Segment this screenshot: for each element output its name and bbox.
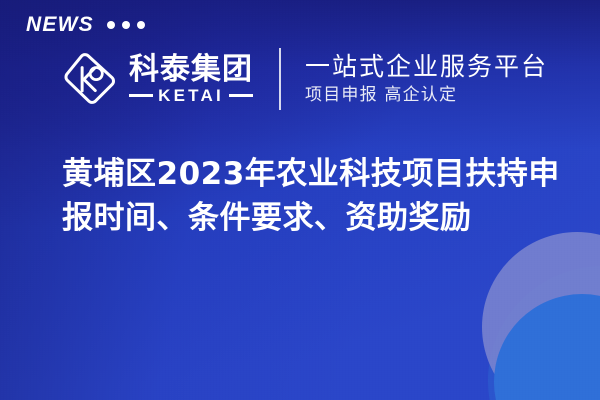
dot-icon: [107, 21, 115, 29]
header-divider: [279, 48, 281, 110]
tagline-secondary: 项目申报 高企认定: [305, 84, 548, 106]
dot-icon: [122, 21, 130, 29]
tagline-primary: 一站式企业服务平台: [305, 52, 548, 82]
brand-header: 科泰集团 KETAI 一站式企业服务平台 项目申报 高企认定: [0, 42, 600, 116]
ketai-kp-diamond-logo-icon: [62, 51, 118, 107]
news-kicker-dots: [107, 21, 145, 29]
brand-name-en-row: KETAI: [129, 87, 253, 104]
dot-icon: [137, 21, 145, 29]
brand-name-en: KETAI: [158, 87, 224, 104]
news-banner: NEWS 科泰集团: [0, 0, 600, 400]
wordmark-rule-right: [229, 94, 253, 97]
brand-tagline: 一站式企业服务平台 项目申报 高企认定: [305, 52, 548, 107]
brand-wordmark: 科泰集团 KETAI: [129, 54, 253, 105]
brand-logo-group: 科泰集团 KETAI: [62, 51, 253, 107]
news-kicker: NEWS: [26, 14, 145, 35]
brand-name-cn: 科泰集团: [129, 54, 253, 86]
headline-title: 黄埔区2023年农业科技项目扶持申报时间、条件要求、资助奖励: [62, 152, 560, 240]
wordmark-rule-left: [129, 94, 153, 97]
news-kicker-label: NEWS: [26, 14, 94, 35]
